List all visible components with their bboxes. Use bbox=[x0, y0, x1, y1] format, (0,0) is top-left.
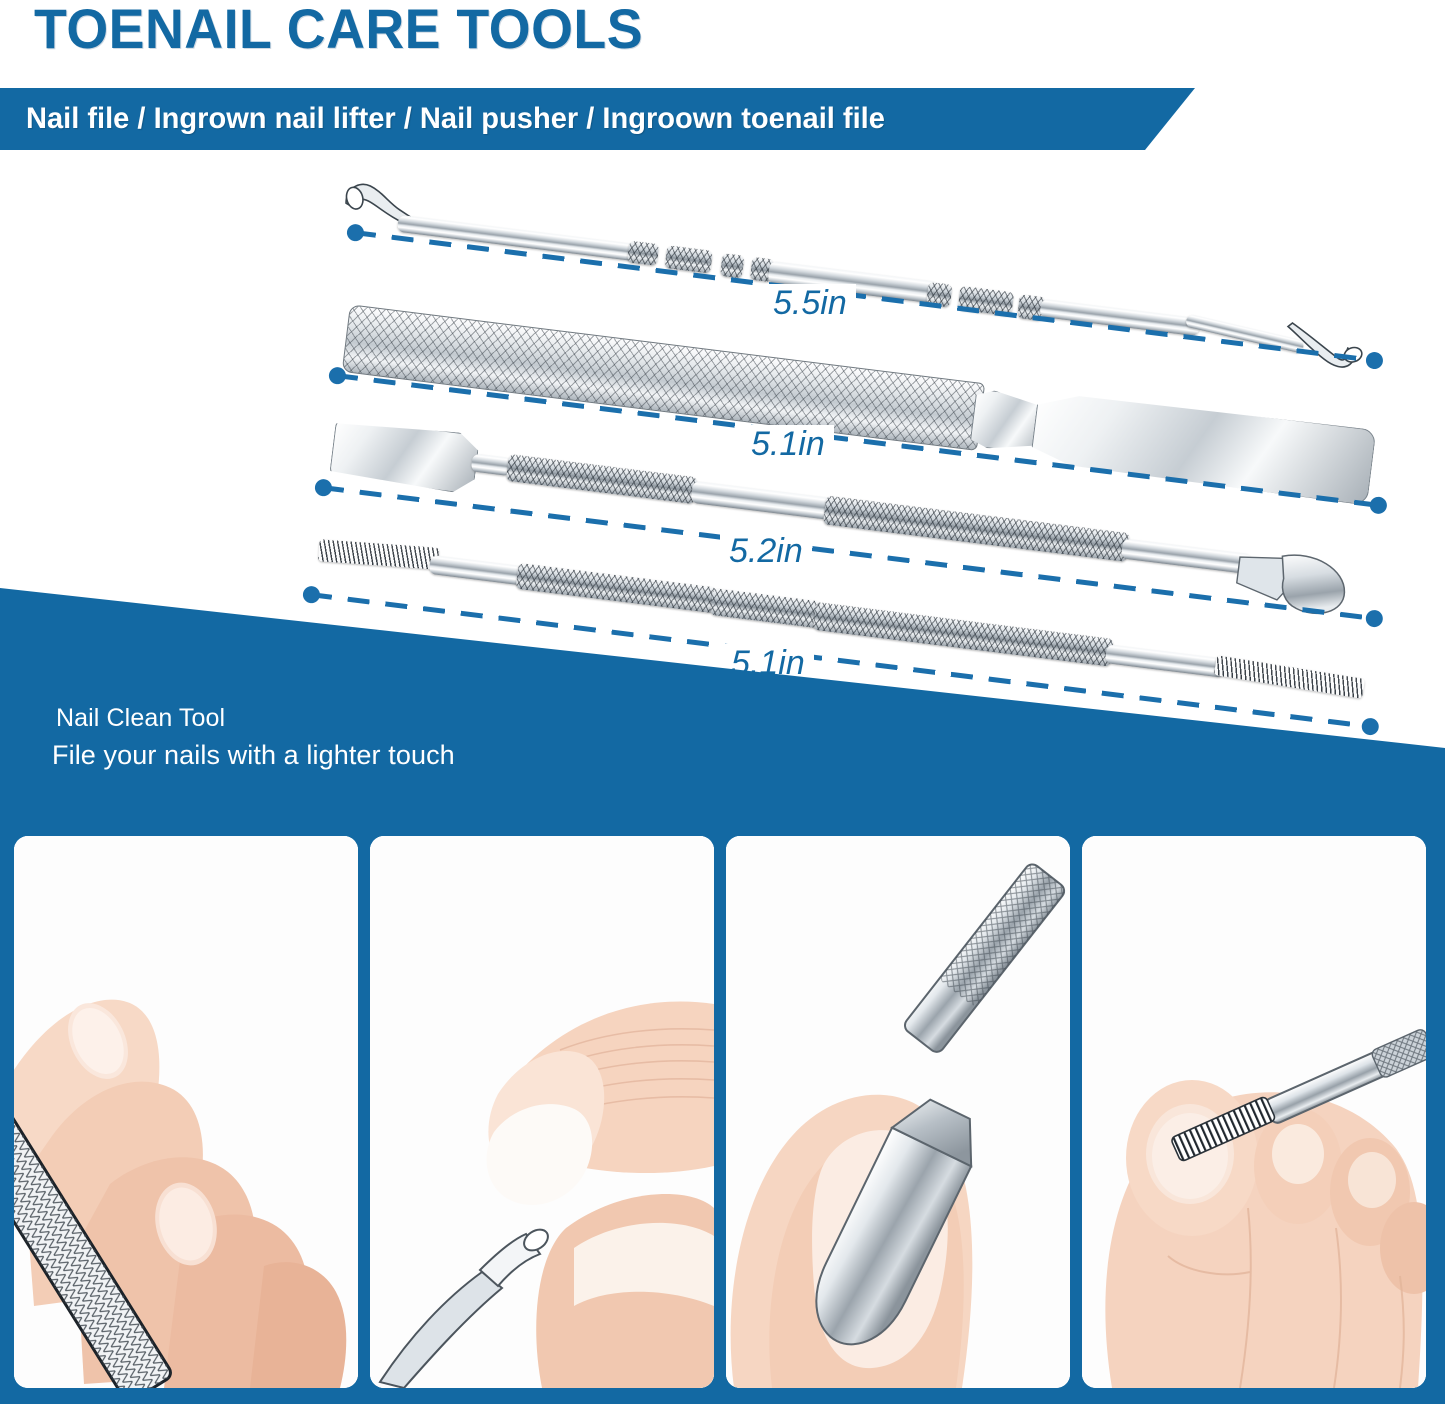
photo-4-image bbox=[1082, 836, 1426, 1388]
photo-3-image bbox=[726, 836, 1070, 1388]
photo-1-image bbox=[14, 836, 358, 1388]
photo-card-toenail-filing bbox=[1082, 836, 1426, 1388]
finger-cuticle-pusher-illustration bbox=[726, 836, 1070, 1388]
callout-subtitle: File your nails with a lighter touch bbox=[52, 740, 455, 771]
photo-card-ingrown-lifting bbox=[370, 836, 714, 1388]
callout-title: Nail Clean Tool bbox=[56, 704, 225, 733]
dimension-label-1: 5.5in bbox=[764, 284, 856, 323]
dimension-endpoint-right bbox=[1365, 609, 1384, 628]
dimension-endpoint-right bbox=[1361, 717, 1380, 736]
subtitle-banner: Nail file / Ingrown nail lifter / Nail p… bbox=[0, 88, 1195, 150]
photo-card-cuticle-pushing bbox=[726, 836, 1070, 1388]
hand-lifting-nail-illustration bbox=[370, 836, 714, 1388]
dimension-label-2: 5.1in bbox=[742, 425, 834, 464]
dimension-endpoint-left bbox=[302, 585, 321, 604]
photo-card-nail-filing bbox=[14, 836, 358, 1388]
photo-2-image bbox=[370, 836, 714, 1388]
foot-toenail-file-illustration bbox=[1082, 836, 1426, 1388]
page-title: TOENAIL CARE TOOLS bbox=[34, 0, 643, 61]
hand-filing-nail-illustration bbox=[14, 836, 358, 1388]
dimension-label-3: 5.2in bbox=[720, 532, 812, 571]
product-infographic: TOENAIL CARE TOOLS Nail file / Ingrown n… bbox=[0, 0, 1445, 1404]
subtitle-banner-text: Nail file / Ingrown nail lifter / Nail p… bbox=[26, 102, 885, 136]
